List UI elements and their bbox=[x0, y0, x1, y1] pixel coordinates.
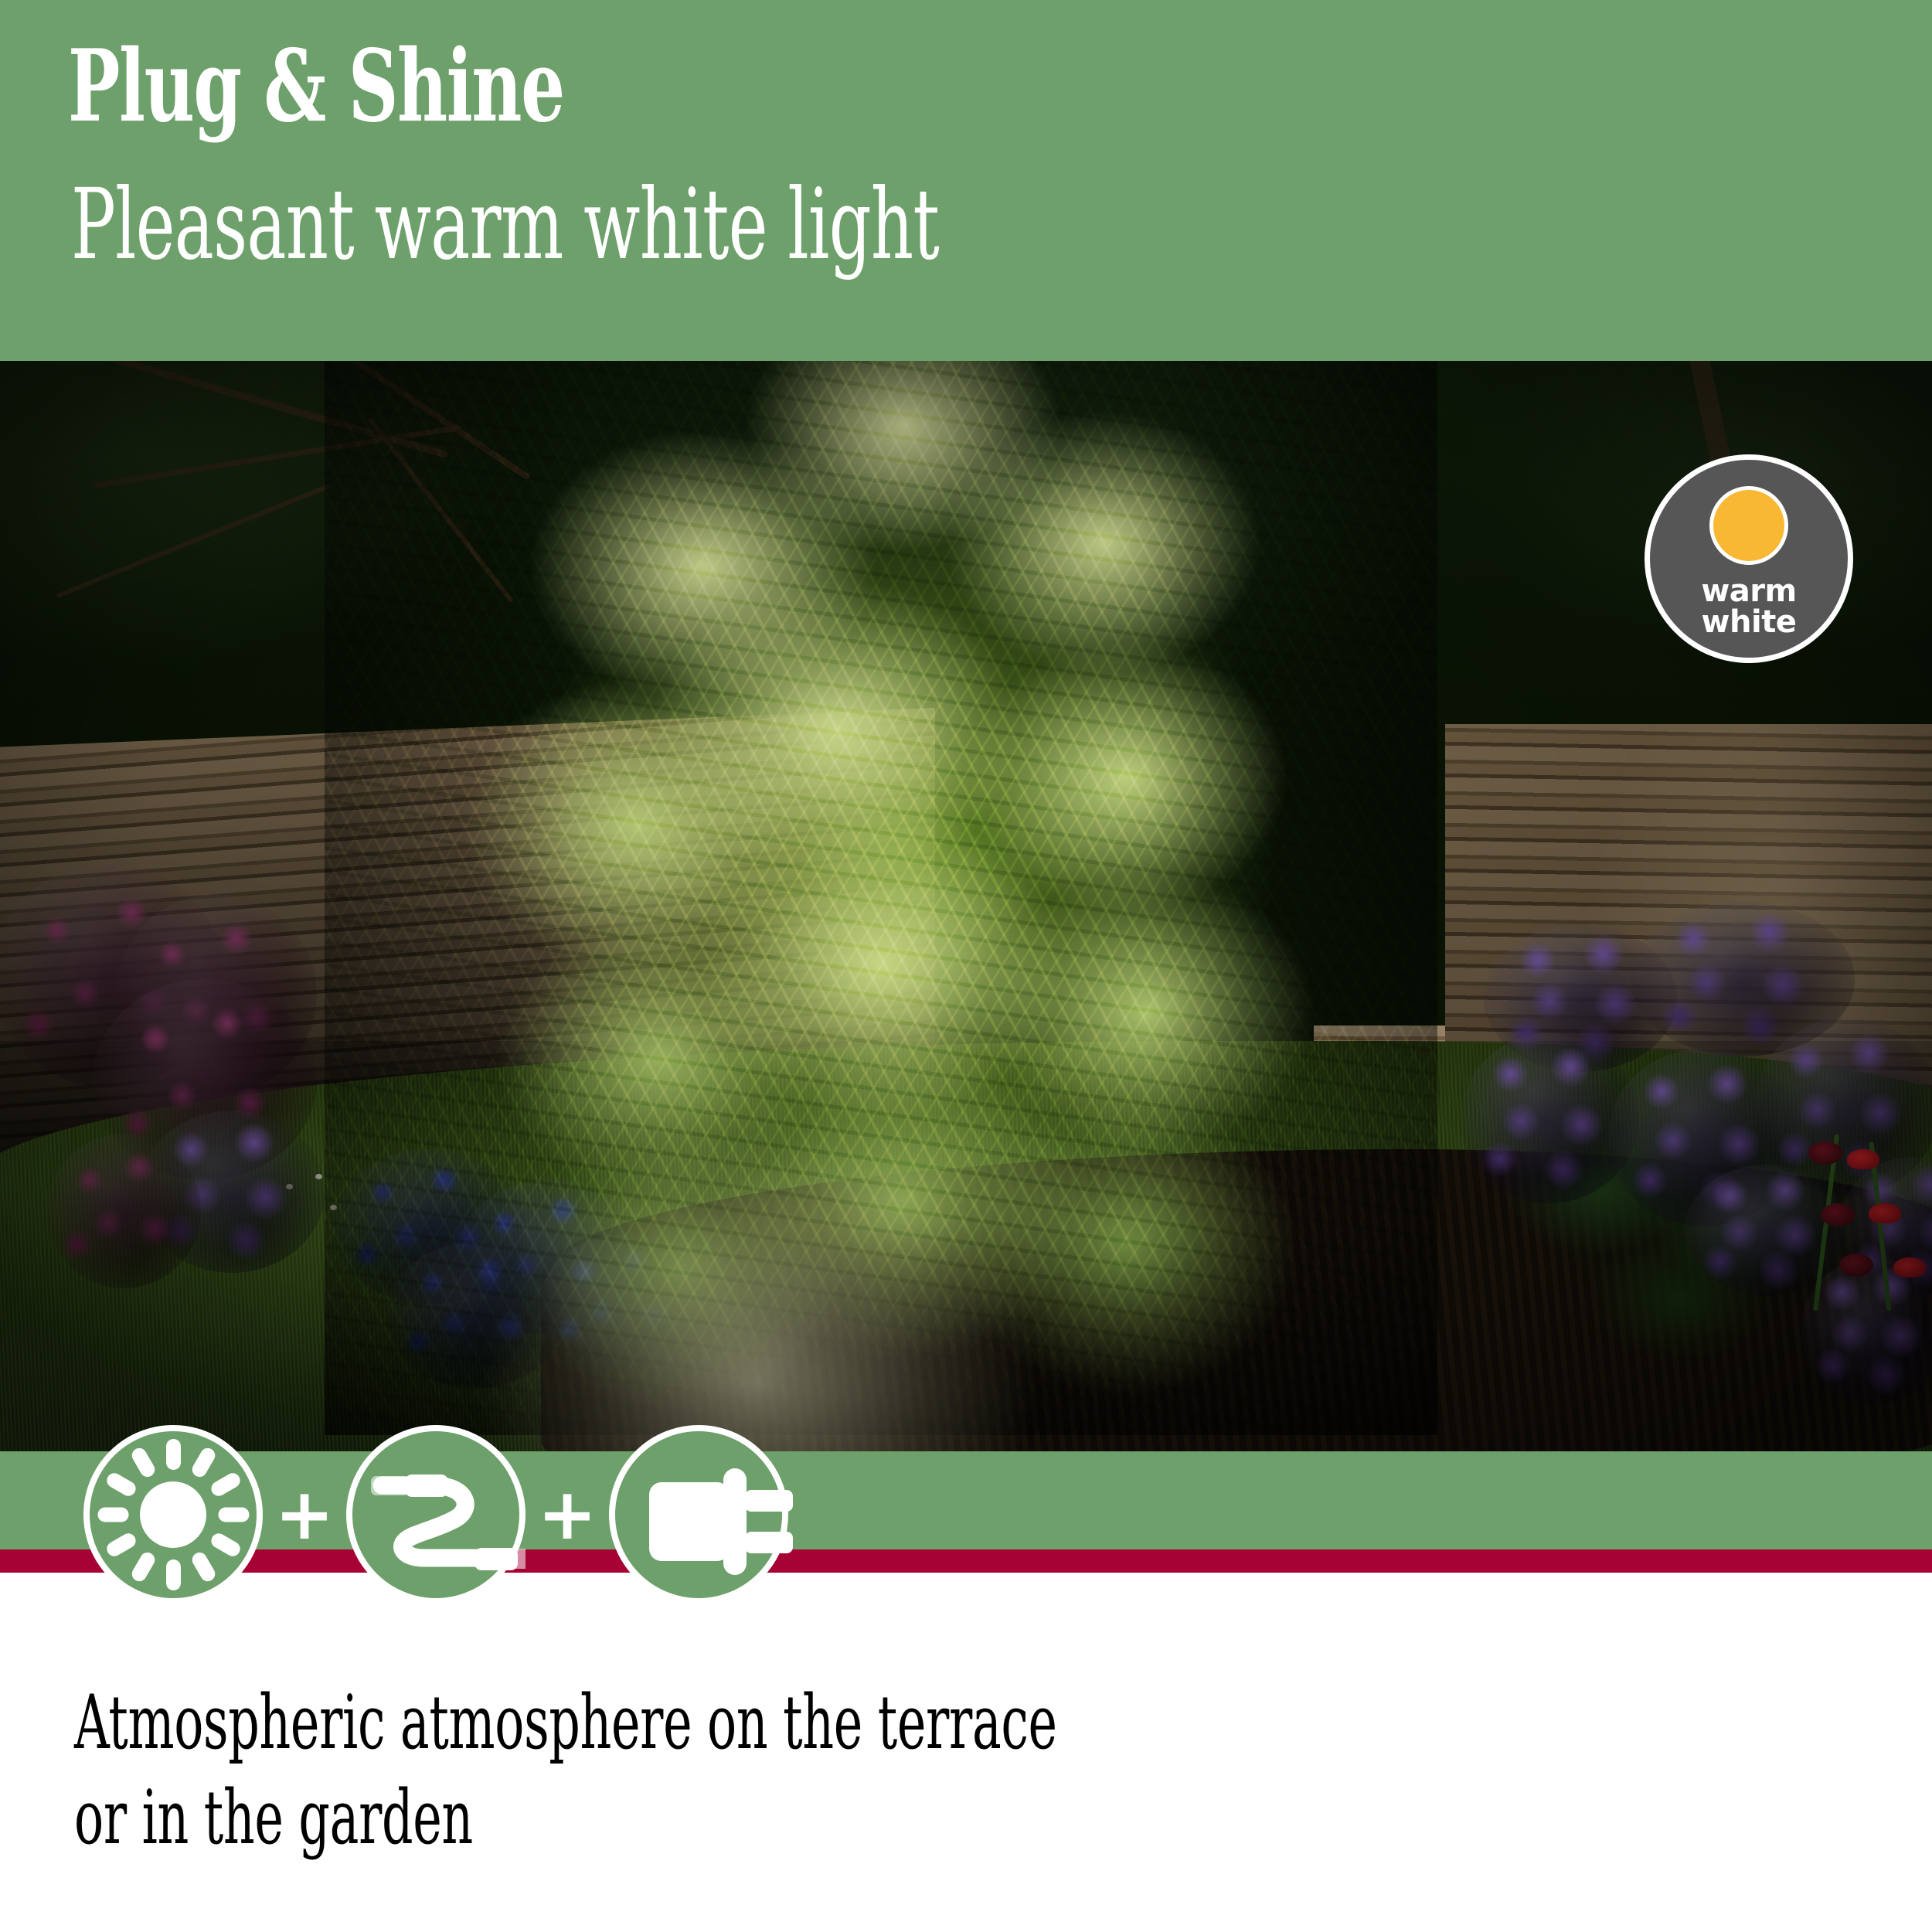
sun-ray bbox=[166, 1439, 181, 1470]
plug-icon bbox=[609, 1425, 788, 1604]
warm-white-label: warm white bbox=[1701, 576, 1796, 638]
sun-ray bbox=[129, 1549, 157, 1583]
sun-icon bbox=[83, 1425, 263, 1604]
sun-ray bbox=[189, 1549, 217, 1583]
flower-cluster bbox=[46, 1134, 201, 1288]
cable-icon bbox=[346, 1425, 526, 1604]
warm-white-badge: warm white bbox=[1645, 454, 1853, 663]
coneflower bbox=[1821, 1203, 1855, 1226]
plus-separator-2: + bbox=[530, 1479, 604, 1550]
warm-white-color-dot bbox=[1709, 486, 1788, 565]
garden-photo bbox=[0, 361, 1932, 1451]
sun-ray bbox=[218, 1508, 249, 1522]
warm-white-label-line2: white bbox=[1702, 604, 1797, 640]
sun-ray bbox=[129, 1445, 157, 1479]
red-flower bbox=[1847, 1149, 1879, 1169]
plug-body bbox=[649, 1482, 730, 1561]
sun-ray bbox=[97, 1508, 128, 1522]
sun-ray bbox=[104, 1531, 138, 1559]
plug-pin-top bbox=[745, 1490, 793, 1512]
header-band: Plug & Shine Pleasant warm white light bbox=[0, 0, 1932, 361]
caption-text: Atmospheric atmosphere on the terrace or… bbox=[74, 1675, 1247, 1866]
red-flower bbox=[1869, 1203, 1901, 1223]
illuminated-conifer bbox=[325, 361, 1437, 1435]
coneflower bbox=[1839, 1253, 1873, 1277]
plus-separator-1: + bbox=[267, 1479, 342, 1550]
sun-ray bbox=[104, 1471, 138, 1498]
plug-neck bbox=[723, 1468, 747, 1575]
page-subtitle: Pleasant warm white light bbox=[71, 176, 939, 274]
sun-ray bbox=[189, 1445, 217, 1479]
conifer-shading bbox=[325, 361, 1437, 1435]
coneflower bbox=[1808, 1141, 1842, 1165]
sun-ray bbox=[166, 1560, 181, 1590]
red-flower bbox=[1893, 1257, 1926, 1277]
feature-icon-row: + + bbox=[0, 1414, 1932, 1615]
page-title: Plug & Shine bbox=[68, 37, 564, 136]
sun-ray bbox=[208, 1531, 242, 1559]
sun-core bbox=[140, 1481, 206, 1548]
cable-icon-glyph bbox=[359, 1437, 526, 1604]
sun-ray bbox=[208, 1471, 242, 1498]
plug-pin-bottom bbox=[745, 1532, 793, 1553]
